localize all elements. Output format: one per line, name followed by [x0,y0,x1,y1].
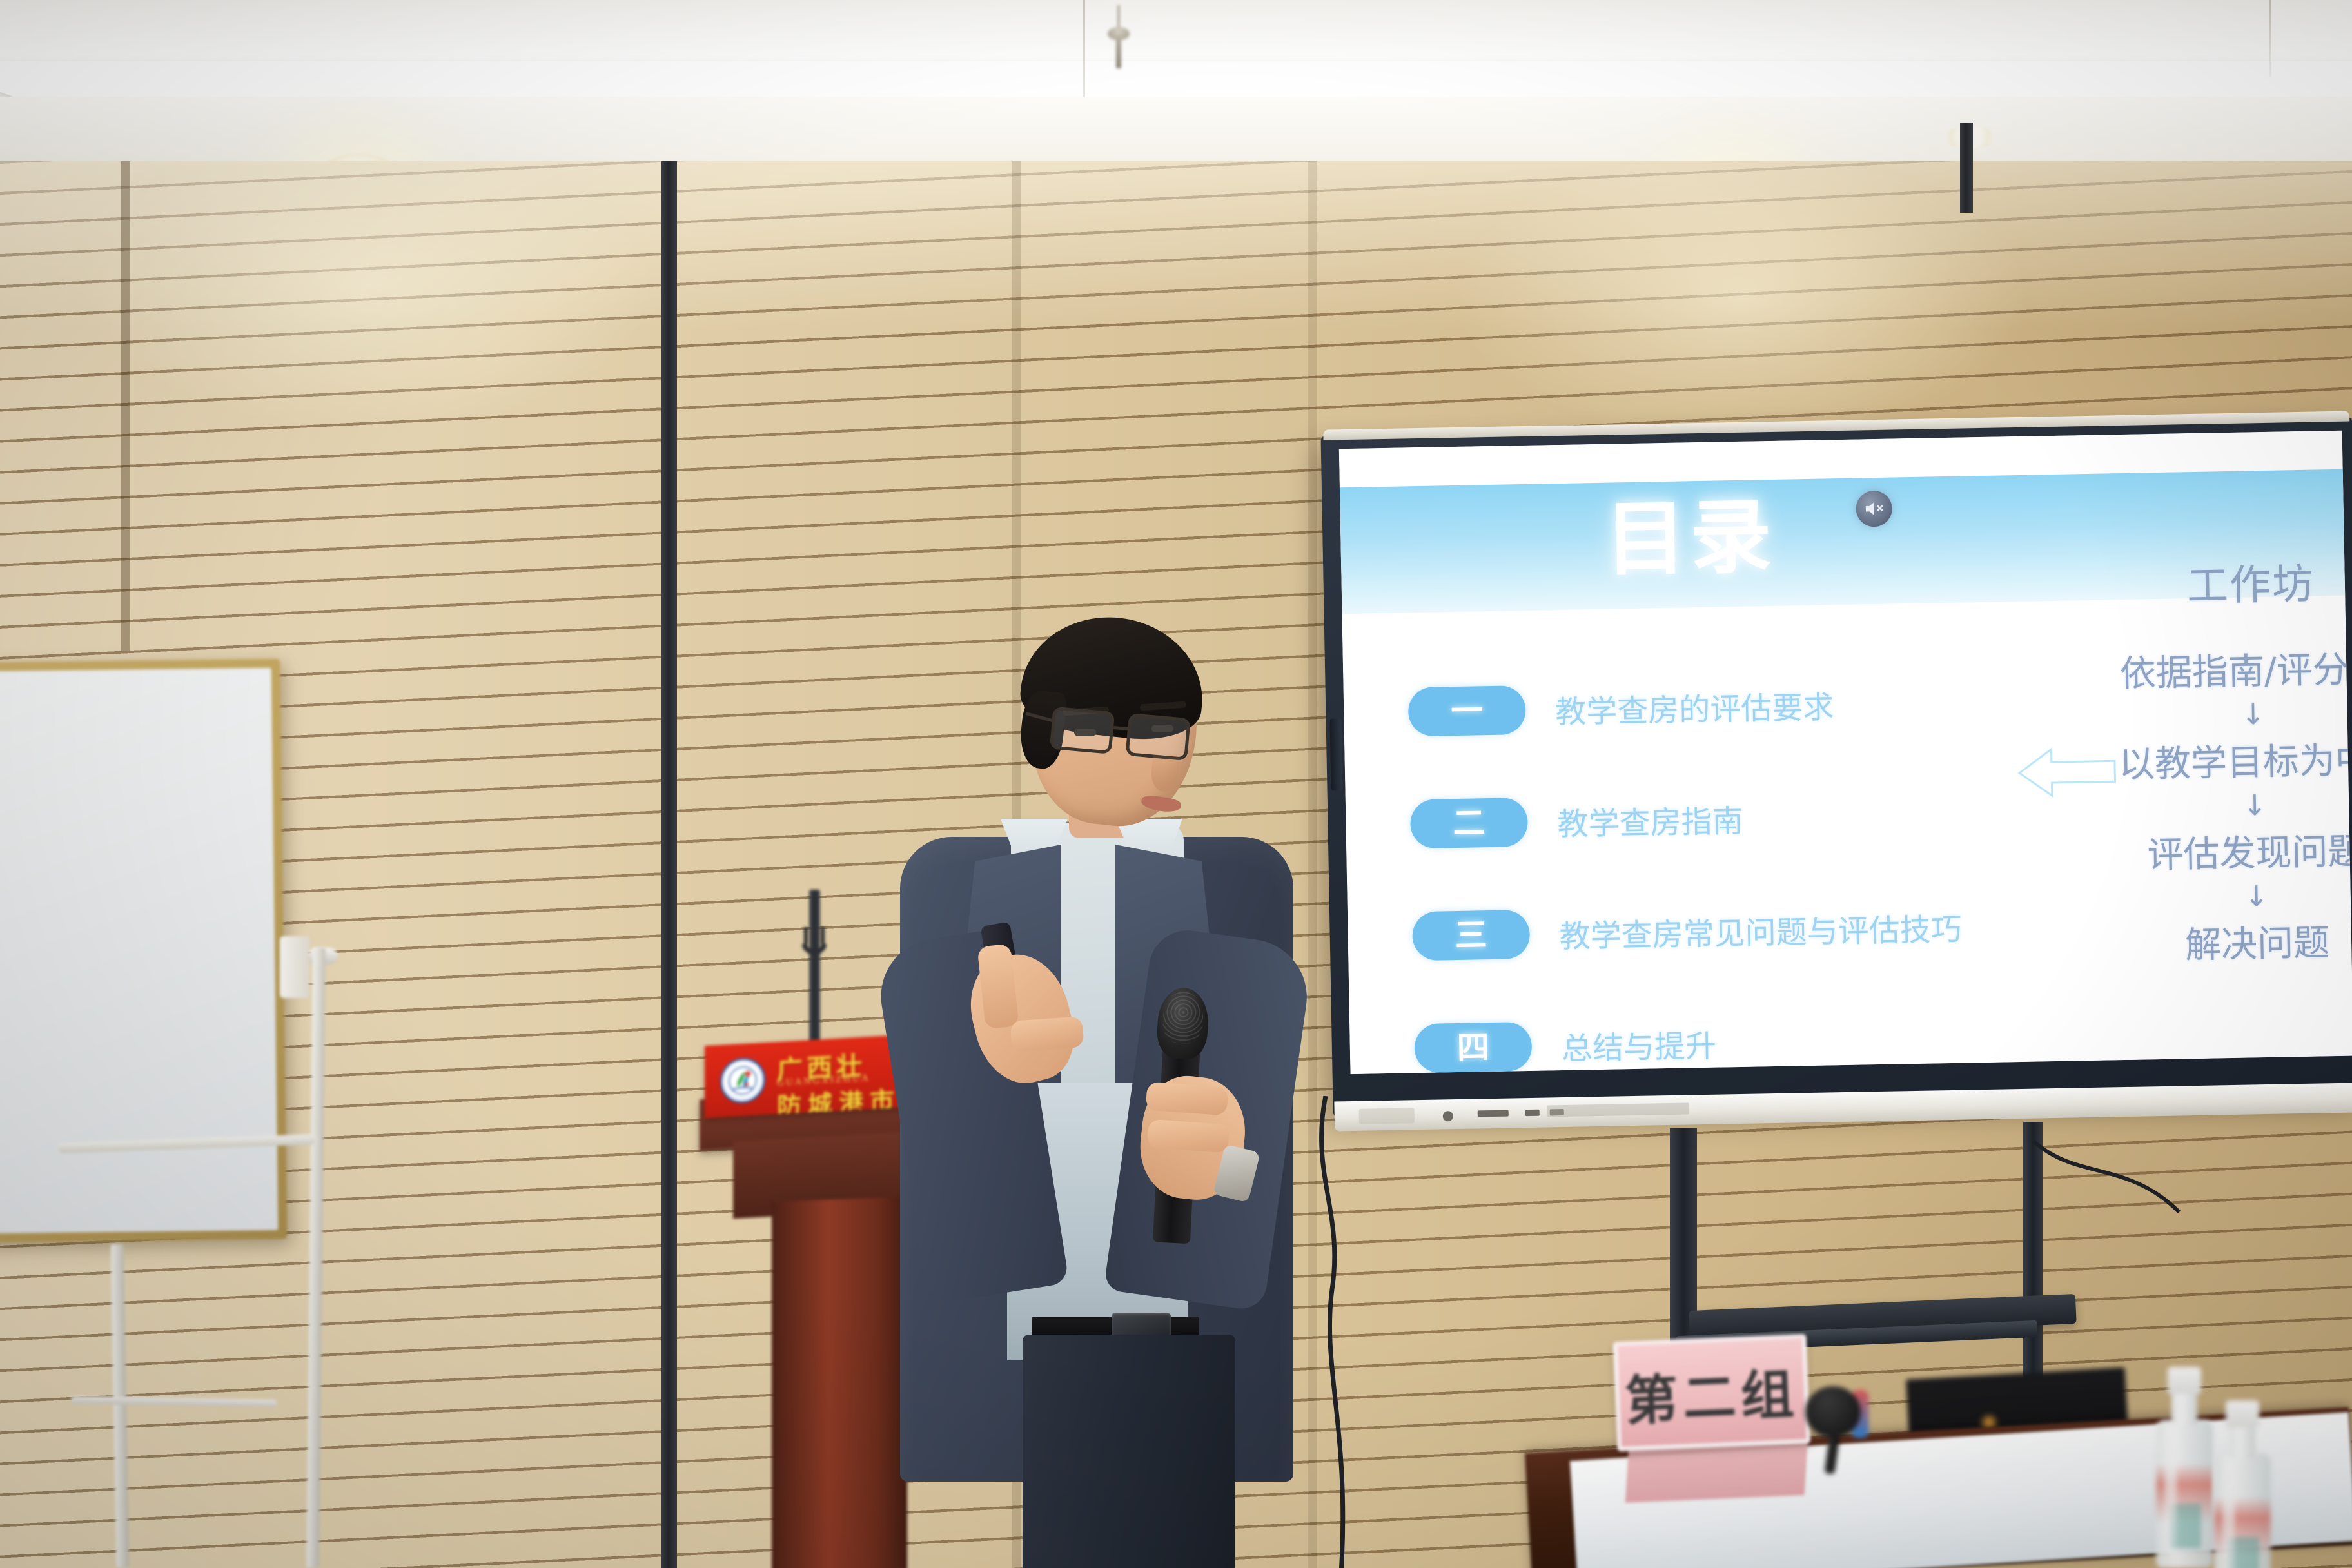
presenter-finger [1146,1082,1229,1116]
toc-label: 总结与提升 [1561,1021,1716,1068]
whiteboard-clamp [280,936,309,998]
toc-item: 四 总结与提升 [1414,1003,1970,1074]
wall-post [1960,122,1973,213]
left-arrow-icon [2015,739,2119,805]
toc-label: 教学查房的评估要求 [1555,681,1834,732]
presenter-finger [1010,1016,1084,1052]
microphone-clip-icon [799,922,829,961]
presenter-finger [1147,1119,1230,1153]
toc-number-pill: 一 [1408,685,1526,736]
workshop-connector: ↓ [2119,789,2352,823]
group-placard-text: 第二组 [1623,1351,1801,1435]
toc-label: 教学查房指南 [1557,796,1743,844]
whiteboard[interactable] [0,659,287,1244]
presentation-slide: 目录 一 教学查房的评估要求 [1339,431,2352,1074]
workshop-connector: ↓ [2117,698,2352,732]
toc-item: 三 教学查房常见问题与评估技巧 [1412,892,1968,972]
toc-item: 一 教学查房的评估要求 [1407,667,1963,747]
display-bezel: 目录 一 教学查房的评估要求 [1320,416,2352,1118]
group-placard: 第二组 [1613,1334,1811,1451]
display-model-label [1547,1102,1689,1117]
toc-number-pill: 四 [1414,1022,1532,1073]
toc-number: 一 [1451,694,1484,727]
wall-panel-seam [121,161,130,651]
workshop-title: 工作坊 [2115,550,2352,614]
conference-room-scene: 目录 一 教学查房的评估要求 [0,0,2352,1568]
display-port[interactable] [1478,1110,1509,1117]
workshop-step: 依据指南/评分表 [2117,640,2352,697]
display-screen[interactable]: 目录 一 教学查房的评估要求 [1339,431,2352,1074]
microphone-stand [809,890,820,1044]
hospital-seal-logo [720,1057,765,1104]
group-placard-face: 第二组 [1613,1334,1811,1451]
ceiling-seam [2269,0,2271,77]
workshop-connector: ↓ [2121,880,2352,914]
workshop-step: 以教学目标为中心 [2118,730,2352,788]
presenter-trousers [1023,1335,1235,1568]
display-power-button[interactable] [1443,1111,1453,1121]
display-port[interactable] [1525,1110,1540,1116]
toc-label: 教学查房常见问题与评估技巧 [1559,904,1962,956]
workshop-flow: 工作坊 依据指南/评分表 ↓ 以教学目标为中心 ↓ 评估发现问题 ↓ 解决问题 [2115,550,2352,970]
table-microphone[interactable] [1805,1386,1863,1464]
presenter [838,632,1328,1568]
stand-cable [2031,1135,2199,1328]
toc-number: 四 [1456,1031,1489,1064]
slide-title: 目录 [1604,496,1776,581]
toc-number-pill: 二 [1410,798,1528,848]
workshop-step: 解决问题 [2121,912,2352,970]
toc-number: 二 [1453,807,1485,839]
toc-number-pill: 三 [1412,910,1530,961]
toc-item: 二 教学查房指南 [1410,779,1966,859]
sprinkler-head-icon [1106,5,1132,76]
toc-number: 三 [1455,919,1487,952]
interactive-display[interactable]: 目录 一 教学查房的评估要求 [1320,416,2352,1118]
wall-post [661,161,677,1568]
slide-toc-list: 一 教学查房的评估要求 二 教学查房指南 三 [1407,667,1970,1074]
display-side-button[interactable] [1329,718,1342,790]
workshop-step: 评估发现问题 [2120,821,2352,879]
